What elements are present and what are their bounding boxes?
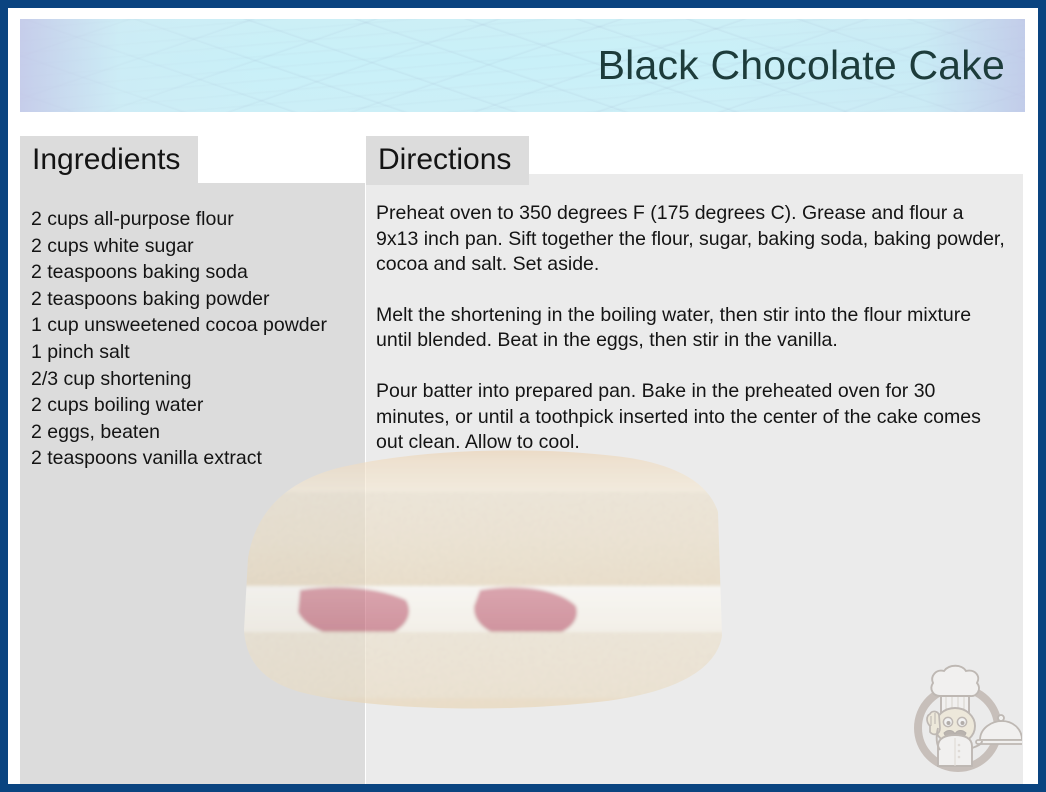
directions-body: Preheat oven to 350 degrees F (175 degre…: [366, 174, 1023, 456]
page-title: Black Chocolate Cake: [598, 42, 1025, 89]
list-item: 2 eggs, beaten: [31, 419, 359, 446]
ingredients-panel: 2 cups all-purpose flour 2 cups white su…: [20, 183, 365, 784]
list-item: 2 cups white sugar: [31, 233, 359, 260]
list-item: 1 cup unsweetened cocoa powder: [31, 312, 359, 339]
ingredients-list: 2 cups all-purpose flour 2 cups white su…: [20, 183, 365, 472]
list-item: 2 teaspoons vanilla extract: [31, 445, 359, 472]
header-banner: Black Chocolate Cake: [20, 19, 1025, 112]
direction-step: Melt the shortening in the boiling water…: [376, 303, 1009, 354]
recipe-card-canvas: Black Chocolate Cake 2 cups all-purpose …: [8, 8, 1038, 784]
list-item: 1 pinch salt: [31, 339, 359, 366]
chef-with-cloche-logo: [900, 656, 1022, 778]
recipe-card-frame: Black Chocolate Cake 2 cups all-purpose …: [0, 0, 1046, 792]
list-item: 2 cups boiling water: [31, 392, 359, 419]
list-item: 2/3 cup shortening: [31, 366, 359, 393]
direction-step: Pour batter into prepared pan. Bake in t…: [376, 379, 1009, 456]
direction-step: Preheat oven to 350 degrees F (175 degre…: [376, 201, 1009, 278]
section-heading-directions: Directions: [366, 136, 529, 185]
list-item: 2 cups all-purpose flour: [31, 206, 359, 233]
section-heading-ingredients: Ingredients: [20, 136, 198, 185]
list-item: 2 teaspoons baking powder: [31, 286, 359, 313]
list-item: 2 teaspoons baking soda: [31, 259, 359, 286]
